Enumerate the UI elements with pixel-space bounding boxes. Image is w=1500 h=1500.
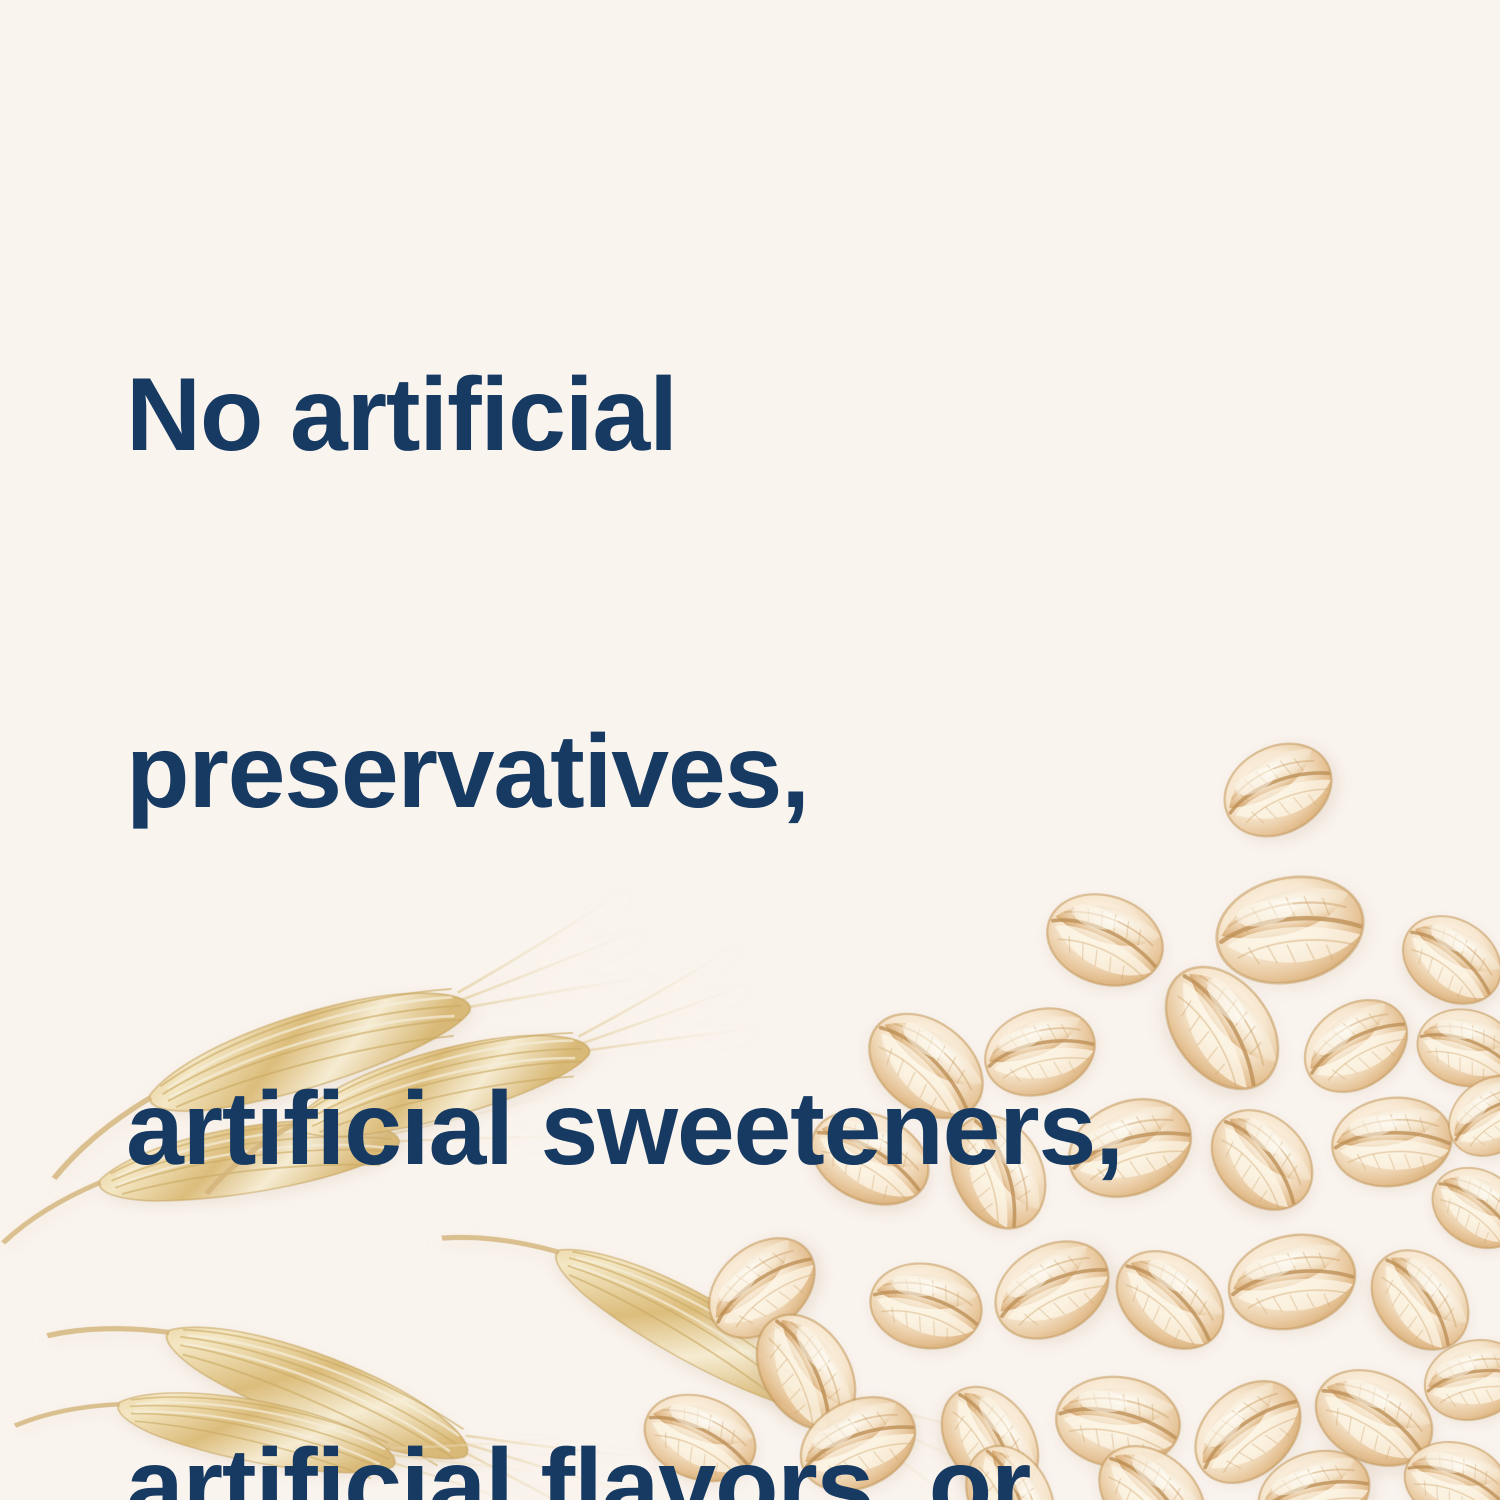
headline-text: No artificial preservatives, artificial … (126, 118, 1356, 1500)
headline-line-3: artificial sweeteners, (126, 1070, 1356, 1189)
headline-line-2: preservatives, (126, 713, 1356, 832)
oat-flake (1396, 1432, 1500, 1500)
oat-flake (1387, 899, 1500, 1050)
oat-flake (1434, 1033, 1500, 1172)
oat-flake (1418, 1152, 1500, 1288)
oat-stem (0, 1182, 107, 1242)
headline-line-1: No artificial (126, 356, 1356, 475)
marketing-image-canvas: No artificial preservatives, artificial … (0, 0, 1500, 1500)
oat-flake (1415, 1315, 1500, 1431)
oat-flake (1410, 1001, 1500, 1106)
oat-stem (15, 1384, 120, 1446)
oat-flake (1352, 1231, 1500, 1410)
headline-line-4: artificial flavors, or (126, 1427, 1356, 1500)
